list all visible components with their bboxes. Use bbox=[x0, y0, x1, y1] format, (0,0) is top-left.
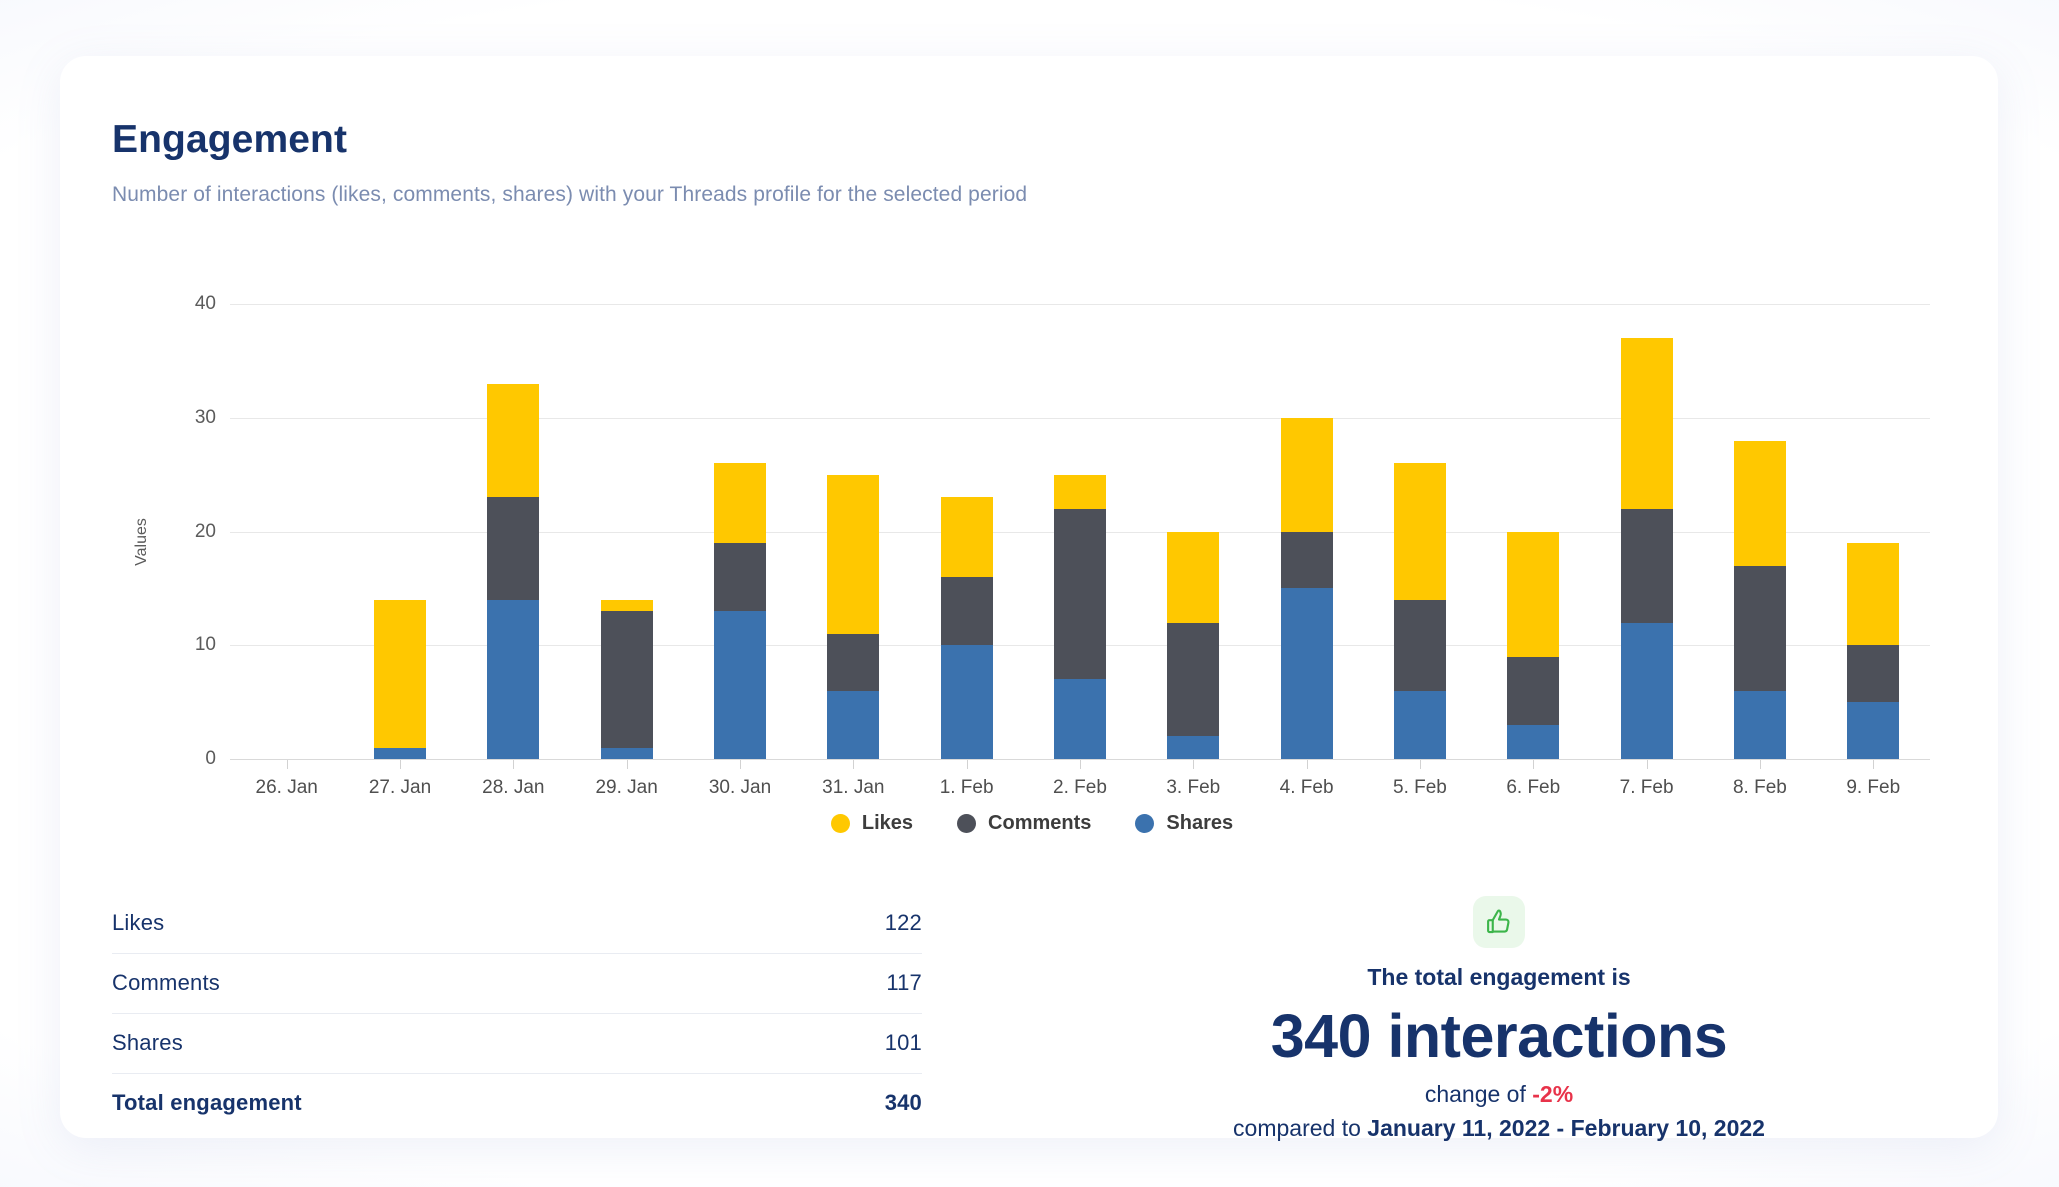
summary-row: Comments117 bbox=[112, 954, 922, 1014]
x-axis-tick-mark bbox=[627, 760, 628, 769]
engagement-card: Engagement Number of interactions (likes… bbox=[60, 56, 1998, 1138]
bar-group[interactable] bbox=[1363, 304, 1476, 759]
bar-segment-likes[interactable] bbox=[1054, 475, 1106, 509]
x-axis-tick-label: 5. Feb bbox=[1363, 777, 1476, 799]
bar-group[interactable] bbox=[1250, 304, 1363, 759]
bar-stack[interactable] bbox=[487, 384, 539, 759]
legend-color-swatch bbox=[957, 814, 976, 833]
x-axis-tick: 6. Feb bbox=[1477, 760, 1590, 799]
y-axis-tick-label: 0 bbox=[205, 748, 216, 770]
bar-segment-likes[interactable] bbox=[1281, 418, 1333, 532]
y-axis-tick-label: 40 bbox=[195, 293, 216, 315]
x-axis-tick-mark bbox=[1080, 760, 1081, 769]
bar-group[interactable] bbox=[1023, 304, 1136, 759]
x-axis-tick: 1. Feb bbox=[910, 760, 1023, 799]
bar-segment-shares[interactable] bbox=[1847, 702, 1899, 759]
x-axis-tick-label: 2. Feb bbox=[1023, 777, 1136, 799]
x-axis-tick: 9. Feb bbox=[1817, 760, 1930, 799]
bar-group[interactable] bbox=[230, 304, 343, 759]
x-axis-tick: 2. Feb bbox=[1023, 760, 1136, 799]
bar-group[interactable] bbox=[797, 304, 910, 759]
highlight-lead: The total engagement is bbox=[1052, 964, 1946, 991]
bar-segment-comments[interactable] bbox=[1167, 623, 1219, 737]
bar-segment-shares[interactable] bbox=[714, 611, 766, 759]
bar-stack[interactable] bbox=[1281, 418, 1333, 759]
bar-stack[interactable] bbox=[1847, 543, 1899, 759]
x-axis-tick: 4. Feb bbox=[1250, 760, 1363, 799]
bar-segment-comments[interactable] bbox=[714, 543, 766, 611]
summary-row: Shares101 bbox=[112, 1014, 922, 1074]
bar-group[interactable] bbox=[1590, 304, 1703, 759]
x-axis-tick-label: 31. Jan bbox=[797, 777, 910, 799]
engagement-chart: Values 010203040 26. Jan27. Jan28. Jan29… bbox=[112, 252, 1952, 832]
bar-segment-shares[interactable] bbox=[1734, 691, 1786, 759]
bar-segment-shares[interactable] bbox=[1281, 588, 1333, 759]
bar-stack[interactable] bbox=[1054, 475, 1106, 759]
y-axis-tick-label: 30 bbox=[195, 407, 216, 429]
x-axis-tick-mark bbox=[287, 760, 288, 769]
x-axis-tick-mark bbox=[853, 760, 854, 769]
x-axis-tick-label: 30. Jan bbox=[683, 777, 796, 799]
x-axis-tick: 30. Jan bbox=[683, 760, 796, 799]
x-axis-tick-label: 7. Feb bbox=[1590, 777, 1703, 799]
highlight-compare: compared to January 11, 2022 - February … bbox=[1052, 1115, 1946, 1142]
y-axis-tick-label: 20 bbox=[195, 521, 216, 543]
x-axis-tick-mark bbox=[967, 760, 968, 769]
summary-row-label: Comments bbox=[112, 970, 220, 996]
bar-stack[interactable] bbox=[714, 463, 766, 759]
summary-row-label: Likes bbox=[112, 910, 164, 936]
bar-segment-comments[interactable] bbox=[827, 634, 879, 691]
x-axis-tick-mark bbox=[1647, 760, 1648, 769]
chart-legend: LikesCommentsShares bbox=[112, 812, 1952, 835]
bar-stack[interactable] bbox=[1734, 441, 1786, 760]
bar-segment-comments[interactable] bbox=[487, 497, 539, 599]
summary-row-label: Shares bbox=[112, 1030, 183, 1056]
bar-stack[interactable] bbox=[1394, 463, 1446, 759]
bar-segment-comments[interactable] bbox=[941, 577, 993, 645]
y-axis-title: Values bbox=[133, 518, 151, 566]
x-axis-tick-mark bbox=[513, 760, 514, 769]
legend-label: Comments bbox=[988, 812, 1091, 835]
x-axis-tick-label: 27. Jan bbox=[343, 777, 456, 799]
bar-stack[interactable] bbox=[827, 475, 879, 759]
bar-segment-likes[interactable] bbox=[827, 475, 879, 634]
bar-stack[interactable] bbox=[941, 497, 993, 759]
legend-color-swatch bbox=[1135, 814, 1154, 833]
bar-segment-comments[interactable] bbox=[1054, 509, 1106, 680]
summary-total-row: Total engagement340 bbox=[112, 1074, 922, 1133]
bar-stack[interactable] bbox=[1167, 532, 1219, 760]
bar-segment-likes[interactable] bbox=[1394, 463, 1446, 600]
x-axis-tick-label: 26. Jan bbox=[230, 777, 343, 799]
bar-segment-likes[interactable] bbox=[941, 497, 993, 577]
x-axis-tick-mark bbox=[740, 760, 741, 769]
legend-item-comments[interactable]: Comments bbox=[957, 812, 1091, 835]
bar-stack[interactable] bbox=[1507, 532, 1559, 760]
x-axis-tick: 8. Feb bbox=[1703, 760, 1816, 799]
x-axis-tick-mark bbox=[1533, 760, 1534, 769]
bar-stack[interactable] bbox=[601, 600, 653, 759]
highlight-change-prefix: change of bbox=[1425, 1081, 1532, 1107]
bar-group[interactable] bbox=[1477, 304, 1590, 759]
y-axis-tick-label: 10 bbox=[195, 634, 216, 656]
bar-segment-shares[interactable] bbox=[941, 645, 993, 759]
bar-segment-likes[interactable] bbox=[1621, 338, 1673, 509]
legend-color-swatch bbox=[831, 814, 850, 833]
summary-table: Likes122Comments117Shares101Total engage… bbox=[112, 894, 1052, 1142]
bar-segment-likes[interactable] bbox=[487, 384, 539, 498]
bar-segment-comments[interactable] bbox=[601, 611, 653, 748]
page-subtitle: Number of interactions (likes, comments,… bbox=[112, 183, 1998, 207]
bar-segment-shares[interactable] bbox=[374, 748, 426, 759]
card-bottom: Likes122Comments117Shares101Total engage… bbox=[60, 894, 1998, 1142]
x-axis-tick-mark bbox=[1420, 760, 1421, 769]
x-axis-tick: 31. Jan bbox=[797, 760, 910, 799]
bar-group[interactable] bbox=[910, 304, 1023, 759]
x-axis-tick-label: 4. Feb bbox=[1250, 777, 1363, 799]
bar-segment-comments[interactable] bbox=[1281, 532, 1333, 589]
x-axis-tick-label: 9. Feb bbox=[1817, 777, 1930, 799]
chart-bars bbox=[230, 304, 1930, 759]
summary-row-value: 340 bbox=[885, 1090, 922, 1116]
bar-segment-likes[interactable] bbox=[714, 463, 766, 543]
x-axis-tick: 27. Jan bbox=[343, 760, 456, 799]
legend-label: Likes bbox=[862, 812, 913, 835]
x-axis-tick-mark bbox=[1873, 760, 1874, 769]
bar-group[interactable] bbox=[1137, 304, 1250, 759]
page-title: Engagement bbox=[112, 118, 1998, 162]
bar-segment-shares[interactable] bbox=[601, 748, 653, 759]
x-axis-tick: 28. Jan bbox=[457, 760, 570, 799]
bar-segment-likes[interactable] bbox=[601, 600, 653, 611]
engagement-highlight: The total engagement is 340 interactions… bbox=[1052, 894, 1946, 1142]
bar-segment-likes[interactable] bbox=[1507, 532, 1559, 657]
x-axis-tick: 3. Feb bbox=[1137, 760, 1250, 799]
bar-segment-likes[interactable] bbox=[1847, 543, 1899, 645]
x-axis-ticks: 26. Jan27. Jan28. Jan29. Jan30. Jan31. J… bbox=[230, 760, 1930, 799]
highlight-change: change of -2% bbox=[1052, 1081, 1946, 1108]
summary-row-label: Total engagement bbox=[112, 1090, 302, 1116]
bar-segment-shares[interactable] bbox=[827, 691, 879, 759]
bar-group[interactable] bbox=[683, 304, 796, 759]
bar-segment-likes[interactable] bbox=[1734, 441, 1786, 566]
bar-segment-shares[interactable] bbox=[1054, 679, 1106, 759]
x-axis-tick-mark bbox=[1760, 760, 1761, 769]
legend-item-likes[interactable]: Likes bbox=[831, 812, 913, 835]
summary-row-value: 122 bbox=[885, 910, 922, 936]
x-axis-tick-label: 8. Feb bbox=[1703, 777, 1816, 799]
x-axis-tick-label: 3. Feb bbox=[1137, 777, 1250, 799]
x-axis-tick: 5. Feb bbox=[1363, 760, 1476, 799]
summary-row-value: 117 bbox=[886, 970, 922, 996]
x-axis-tick: 29. Jan bbox=[570, 760, 683, 799]
bar-segment-likes[interactable] bbox=[1167, 532, 1219, 623]
bar-segment-comments[interactable] bbox=[1847, 645, 1899, 702]
bar-group[interactable] bbox=[1817, 304, 1930, 759]
x-axis-tick-label: 29. Jan bbox=[570, 777, 683, 799]
chart-plot-area: 010203040 bbox=[230, 304, 1930, 759]
legend-label: Shares bbox=[1166, 812, 1233, 835]
bar-segment-shares[interactable] bbox=[487, 600, 539, 759]
bar-segment-shares[interactable] bbox=[1621, 623, 1673, 760]
x-axis-tick-label: 28. Jan bbox=[457, 777, 570, 799]
highlight-compare-period: January 11, 2022 - February 10, 2022 bbox=[1367, 1115, 1765, 1141]
bar-segment-comments[interactable] bbox=[1507, 657, 1559, 725]
bar-segment-comments[interactable] bbox=[1394, 600, 1446, 691]
highlight-compare-prefix: compared to bbox=[1233, 1115, 1367, 1141]
x-axis-tick-mark bbox=[1307, 760, 1308, 769]
card-header: Engagement Number of interactions (likes… bbox=[60, 56, 1998, 207]
bar-segment-likes[interactable] bbox=[374, 600, 426, 748]
bar-group[interactable] bbox=[457, 304, 570, 759]
thumbs-up-icon bbox=[1473, 896, 1525, 948]
summary-row: Likes122 bbox=[112, 894, 922, 954]
legend-item-shares[interactable]: Shares bbox=[1135, 812, 1233, 835]
bar-stack[interactable] bbox=[374, 600, 426, 759]
bar-group[interactable] bbox=[1703, 304, 1816, 759]
summary-row-value: 101 bbox=[885, 1030, 922, 1056]
bar-segment-shares[interactable] bbox=[1167, 736, 1219, 759]
bar-stack[interactable] bbox=[1621, 338, 1673, 759]
highlight-change-value: -2% bbox=[1532, 1081, 1573, 1107]
highlight-value: 340 interactions bbox=[1052, 1001, 1946, 1071]
bar-segment-shares[interactable] bbox=[1394, 691, 1446, 759]
bar-segment-comments[interactable] bbox=[1734, 566, 1786, 691]
x-axis-tick: 7. Feb bbox=[1590, 760, 1703, 799]
x-axis-tick-mark bbox=[1193, 760, 1194, 769]
bar-segment-shares[interactable] bbox=[1507, 725, 1559, 759]
bar-group[interactable] bbox=[570, 304, 683, 759]
x-axis-tick-label: 1. Feb bbox=[910, 777, 1023, 799]
x-axis-tick-label: 6. Feb bbox=[1477, 777, 1590, 799]
x-axis-tick-mark bbox=[400, 760, 401, 769]
bar-group[interactable] bbox=[343, 304, 456, 759]
bar-segment-comments[interactable] bbox=[1621, 509, 1673, 623]
x-axis-tick: 26. Jan bbox=[230, 760, 343, 799]
